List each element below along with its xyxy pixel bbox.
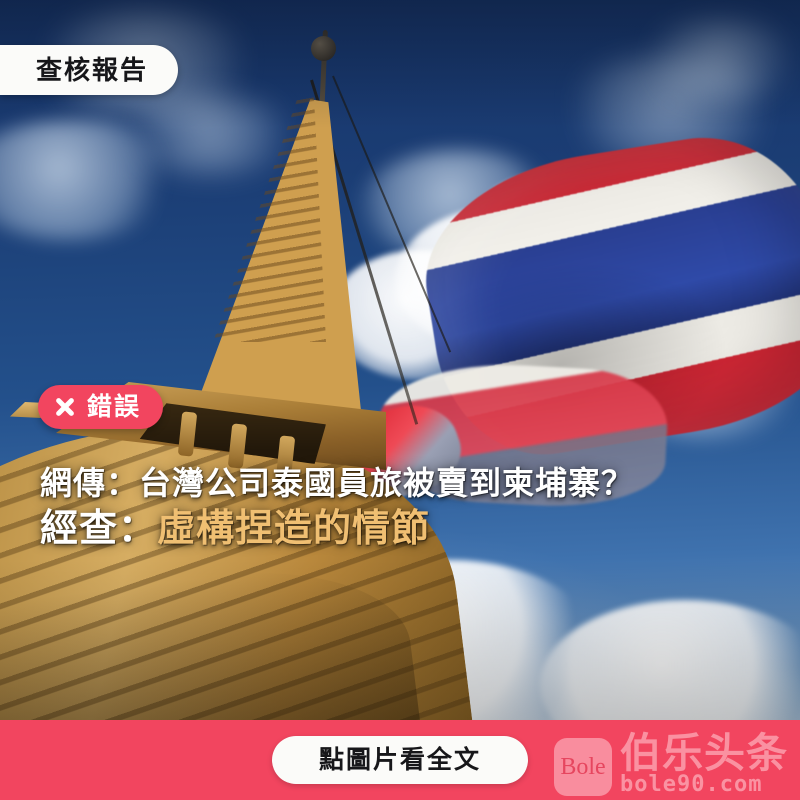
report-badge-label: 查核報告 bbox=[36, 57, 148, 83]
verdict-badge-label: 錯誤 bbox=[87, 395, 141, 420]
bole-logo-text: Bole bbox=[560, 755, 605, 779]
headline-block: 網傳：台灣公司泰國員旅被賣到柬埔寨？ 經查：虛構捏造的情節 bbox=[40, 466, 770, 550]
headline-claim-line: 網傳：台灣公司泰國員旅被賣到柬埔寨？ bbox=[40, 466, 770, 502]
watermark-text-group: 伯乐头条 bole90.com bbox=[620, 733, 788, 796]
view-full-article-button[interactable]: 點圖片看全文 bbox=[272, 736, 528, 784]
view-full-article-label: 點圖片看全文 bbox=[319, 748, 481, 773]
fact-check-card: 查核報告 錯誤 網傳：台灣公司泰國員旅被賣到柬埔寨？ 經查：虛構捏造的情節 點圖… bbox=[0, 0, 800, 800]
headline-verdict-line: 經查：虛構捏造的情節 bbox=[40, 508, 770, 551]
headline-verdict-prefix: 經查： bbox=[40, 508, 157, 550]
bottom-bar: 點圖片看全文 Bole 伯乐头条 bole90.com bbox=[0, 720, 800, 800]
pagoda-spire-rings bbox=[206, 92, 326, 342]
cloud-wisp-4 bbox=[640, 20, 800, 100]
verdict-badge[interactable]: 錯誤 bbox=[38, 385, 163, 429]
pagoda-spire-finial bbox=[311, 36, 336, 61]
watermark: Bole 伯乐头条 bole90.com bbox=[554, 733, 788, 796]
watermark-brand-name: 伯乐头条 bbox=[620, 733, 788, 774]
bole-logo-icon: Bole bbox=[554, 738, 612, 796]
watermark-url: bole90.com bbox=[620, 773, 788, 796]
x-mark-icon bbox=[54, 396, 76, 418]
report-badge[interactable]: 查核報告 bbox=[0, 45, 178, 95]
headline-verdict-highlight: 虛構捏造的情節 bbox=[157, 508, 430, 550]
